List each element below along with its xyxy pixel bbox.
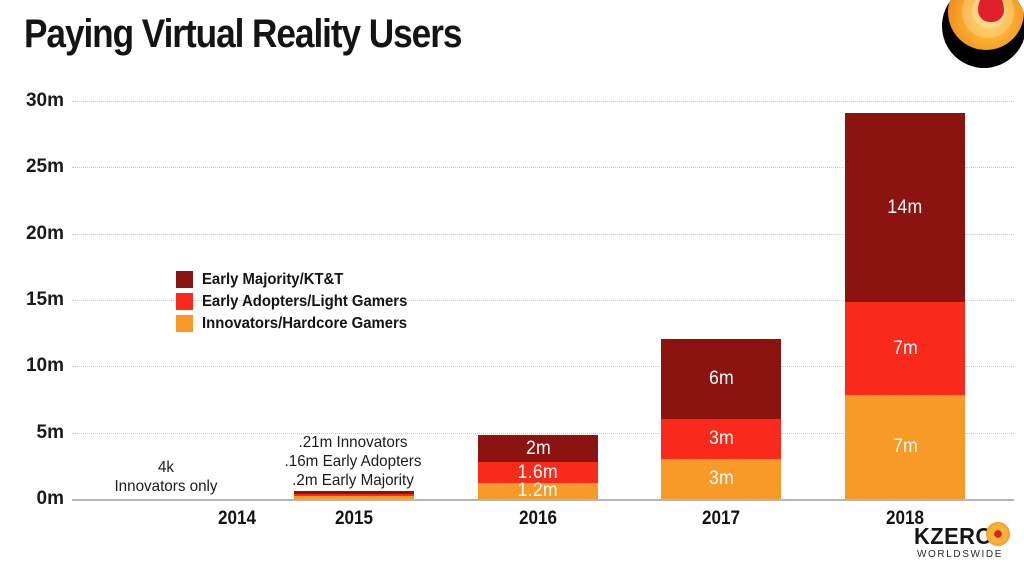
bar-value-label-2018-adopters: 7m	[892, 338, 917, 360]
bar-segment-2016-adopters[interactable]: 1.6m	[478, 462, 598, 483]
brand-name: KZERO	[914, 523, 993, 550]
y-tick-label-25m: 25m	[6, 157, 64, 176]
bar-value-label-2018-innovators: 7m	[892, 436, 917, 458]
page-title: Paying Virtual Reality Users	[24, 12, 461, 57]
bar-segment-2018-innovators[interactable]: 7m	[845, 395, 965, 499]
corner-core-shape	[978, 0, 1004, 22]
annotation-2015-line1: .21m Innovators	[263, 434, 444, 453]
bar-segment-2015-innovators[interactable]	[294, 496, 414, 499]
y-tick-label-0m: 0m	[6, 489, 64, 508]
legend-swatch-early-majority	[176, 271, 193, 288]
bar-value-label-2017-majority: 6m	[708, 368, 733, 390]
brand-corner-mark-icon	[942, 0, 1024, 68]
legend-item-innovators[interactable]: Innovators/Hardcore Gamers	[176, 313, 476, 334]
brand-tagline: WORLDSWIDE	[917, 549, 1003, 560]
annotation-2015-line3: .2m Early Majority	[263, 472, 444, 491]
y-tick-label-30m: 30m	[6, 91, 64, 110]
y-tick-label-5m: 5m	[6, 423, 64, 442]
x-tick-label-2017: 2017	[667, 508, 775, 530]
bar-group-2015[interactable]	[294, 491, 414, 499]
bar-segment-2016-innovators[interactable]: 1.2m	[478, 483, 598, 499]
x-tick-label-2015: 2015	[300, 508, 408, 530]
annotation-2014-line1: 4k	[90, 459, 242, 478]
chart-legend: Early Majority/KT&T Early Adopters/Light…	[176, 269, 476, 335]
annotation-2014-line2: Innovators only	[90, 478, 242, 497]
legend-item-early-adopters[interactable]: Early Adopters/Light Gamers	[176, 291, 476, 312]
x-axis: 20142015201620172018	[72, 508, 1014, 536]
y-tick-label-15m: 15m	[6, 290, 64, 309]
brand-footer-logo: KZERO WORLDSWIDE	[914, 521, 1010, 563]
annotation-2015: .21m Innovators .16m Early Adopters .2m …	[263, 434, 444, 491]
bar-segment-2018-majority[interactable]: 14m	[845, 113, 965, 302]
annotation-2015-line2: .16m Early Adopters	[263, 453, 444, 472]
legend-label-early-adopters: Early Adopters/Light Gamers	[202, 293, 407, 311]
bar-value-label-2018-majority: 14m	[887, 197, 922, 219]
bar-value-label-2016-innovators: 1.2m	[518, 480, 558, 502]
bar-group-2018[interactable]: 14m7m7m	[845, 113, 965, 499]
bar-value-label-2017-innovators: 3m	[708, 468, 733, 490]
legend-label-early-majority: Early Majority/KT&T	[202, 271, 343, 289]
annotation-2014: 4k Innovators only	[90, 459, 242, 497]
y-tick-label-10m: 10m	[6, 356, 64, 375]
bar-value-label-2016-majority: 2m	[525, 438, 550, 460]
brand-target-icon	[986, 522, 1010, 546]
bar-value-label-2016-adopters: 1.6m	[518, 462, 558, 484]
legend-swatch-innovators	[176, 315, 193, 332]
legend-item-early-majority[interactable]: Early Majority/KT&T	[176, 269, 476, 290]
bar-group-2017[interactable]: 6m3m3m	[661, 339, 781, 499]
bar-segment-2017-adopters[interactable]: 3m	[661, 419, 781, 459]
bar-segment-2018-adopters[interactable]: 7m	[845, 302, 965, 395]
gridline-30m	[72, 101, 1014, 102]
x-tick-label-2014: 2014	[183, 508, 291, 530]
bar-group-2016[interactable]: 2m1.6m1.2m	[478, 435, 598, 499]
legend-label-innovators: Innovators/Hardcore Gamers	[202, 315, 407, 333]
bar-segment-2017-majority[interactable]: 6m	[661, 339, 781, 419]
legend-swatch-early-adopters	[176, 293, 193, 310]
bar-segment-2017-innovators[interactable]: 3m	[661, 459, 781, 499]
gridline-0m	[72, 499, 1014, 501]
bar-value-label-2017-adopters: 3m	[708, 428, 733, 450]
bar-segment-2016-majority[interactable]: 2m	[478, 435, 598, 462]
y-tick-label-20m: 20m	[6, 224, 64, 243]
x-tick-label-2016: 2016	[484, 508, 592, 530]
